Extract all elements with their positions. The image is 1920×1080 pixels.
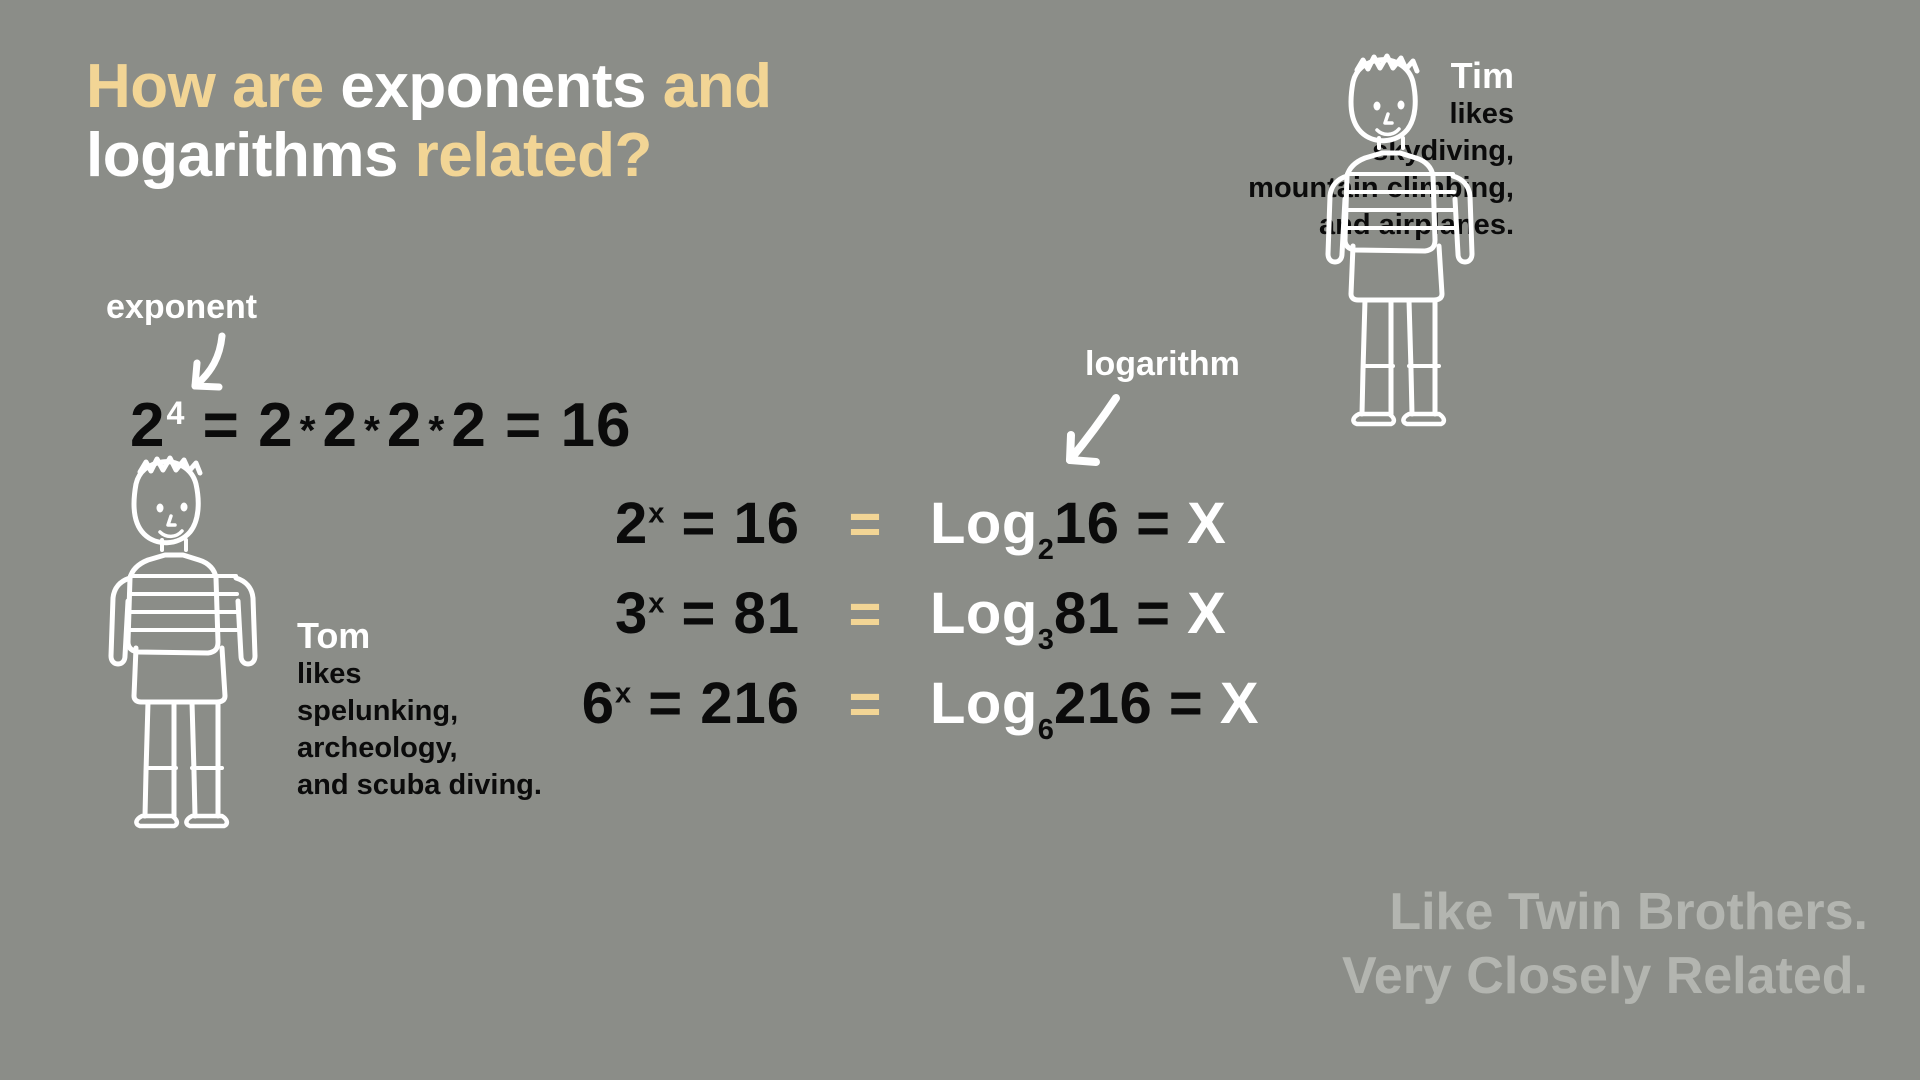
tom-caption: Tom likes spelunking, archeology, and sc…: [297, 616, 542, 804]
top-eq-factor-3: 2: [387, 391, 422, 460]
watermark-line-2: Very Closely Related.: [1342, 945, 1868, 1008]
exp-equals: =: [631, 671, 700, 736]
equivalence-symbol: =: [800, 491, 930, 556]
title-part-how-are: How are: [86, 52, 340, 121]
top-eq-result: 16: [560, 391, 631, 460]
exp-power: x: [615, 678, 631, 710]
log-equals: =: [1119, 491, 1187, 556]
title-line-1: How are exponents and: [86, 52, 771, 121]
log-base: 2: [1038, 534, 1054, 566]
exp-base: 6: [582, 671, 615, 736]
logarithmic-form: Log6216 = X: [930, 670, 1259, 744]
watermark-text: Like Twin Brothers. Very Closely Related…: [1342, 881, 1868, 1008]
tom-desc-line-1: likes: [297, 656, 542, 693]
log-argument: 216: [1054, 671, 1152, 736]
logarithm-arrow-icon: [1040, 392, 1130, 482]
exp-power: x: [648, 588, 664, 620]
multiply-icon: *: [428, 407, 445, 454]
log-result: X: [1187, 491, 1226, 556]
exponent-label: exponent: [106, 288, 257, 327]
tim-figure-icon: [1305, 34, 1495, 434]
title-part-and: and: [663, 52, 772, 121]
exp-value: 81: [733, 581, 800, 646]
logarithmic-form: Log216 = X: [930, 490, 1226, 564]
title-part-exponents: exponents: [340, 52, 662, 121]
exp-value: 16: [733, 491, 800, 556]
log-base: 3: [1038, 624, 1054, 656]
equivalence-symbol: =: [800, 671, 930, 736]
log-result: X: [1220, 671, 1259, 736]
exp-base: 2: [615, 491, 648, 556]
exp-equals: =: [664, 581, 733, 646]
log-equals: =: [1152, 671, 1220, 736]
tom-figure-icon: [82, 438, 282, 838]
exp-power: x: [648, 498, 664, 530]
top-eq-equals-2: =: [487, 391, 561, 460]
multiply-icon: *: [300, 407, 317, 454]
watermark-line-1: Like Twin Brothers.: [1342, 881, 1868, 944]
log-word: Log: [930, 581, 1038, 646]
exp-value: 216: [700, 671, 800, 736]
exp-equals: =: [664, 491, 733, 556]
logarithmic-form: Log381 = X: [930, 580, 1226, 654]
log-word: Log: [930, 491, 1038, 556]
title-part-logarithms: logarithms: [86, 121, 415, 190]
slide-canvas: How are exponents and logarithms related…: [0, 0, 1920, 1080]
top-eq-factor-2: 2: [323, 391, 358, 460]
exp-base: 3: [615, 581, 648, 646]
equation-row: 2x = 16 = Log216 = X: [430, 490, 1259, 580]
equation-row: 6x = 216 = Log6216 = X: [430, 670, 1259, 760]
log-argument: 16: [1054, 491, 1120, 556]
multiply-icon: *: [364, 407, 381, 454]
top-eq-exponent: 4: [166, 395, 184, 431]
log-argument: 81: [1054, 581, 1120, 646]
page-title: How are exponents and logarithms related…: [86, 52, 771, 191]
top-eq-factor-4: 2: [451, 391, 486, 460]
log-result: X: [1187, 581, 1226, 646]
tom-name: Tom: [297, 616, 542, 656]
logarithm-label: logarithm: [1085, 345, 1240, 384]
log-word: Log: [930, 671, 1038, 736]
title-line-2: logarithms related?: [86, 121, 771, 190]
title-part-related: related?: [415, 121, 652, 190]
tom-desc-line-4: and scuba diving.: [297, 767, 542, 804]
tom-desc-line-2: spelunking,: [297, 693, 542, 730]
tom-desc-line-3: archeology,: [297, 730, 542, 767]
equivalence-symbol: =: [800, 581, 930, 646]
log-equals: =: [1119, 581, 1187, 646]
equation-row: 3x = 81 = Log381 = X: [430, 580, 1259, 670]
equation-rows: 2x = 16 = Log216 = X 3x = 81 = Log381 = …: [430, 490, 1259, 760]
log-base: 6: [1038, 714, 1054, 746]
exponential-form: 2x = 16: [430, 490, 800, 557]
